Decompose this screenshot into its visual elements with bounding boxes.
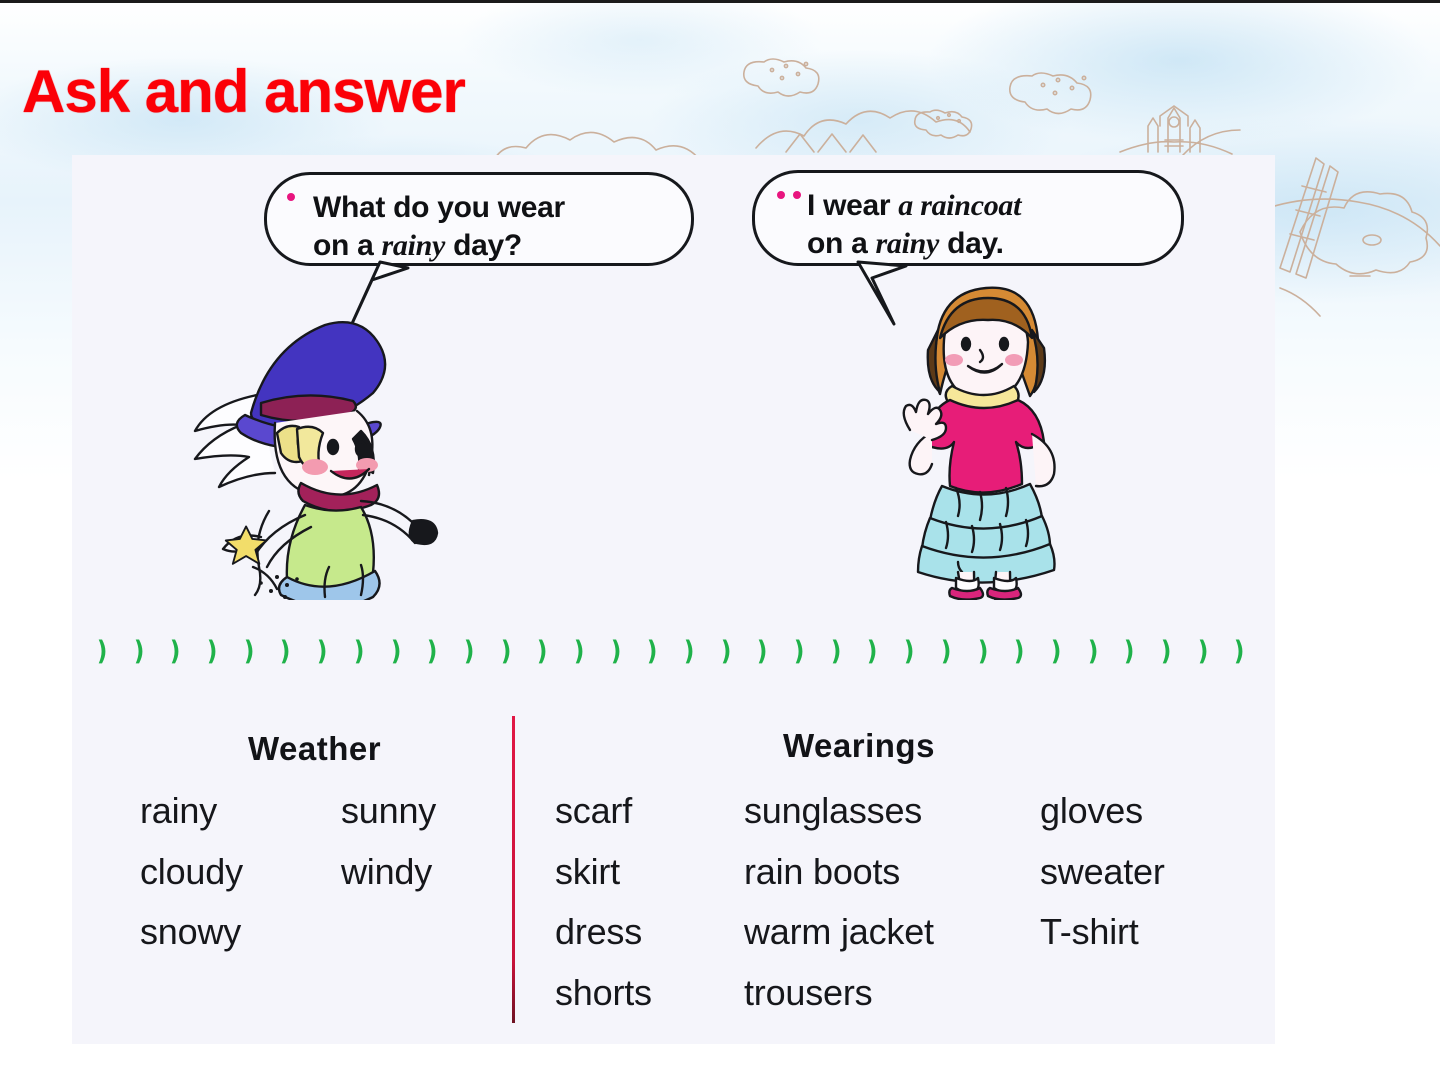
divider-mark-icon: ) [867,638,877,665]
question-line-2-post: day? [445,229,522,262]
speech-bubble-answer: I wear a raincoat on a rainy day. [752,170,1184,266]
wearings-word: T-shirt [1040,911,1139,953]
fairy-character [165,315,440,600]
weather-word: rainy [140,790,217,832]
wearings-word: sweater [1040,851,1165,893]
answer-line-2-pre: on a [807,227,876,260]
divider-mark-icon: ) [134,638,144,665]
divider-mark-icon: ) [464,638,474,665]
wearings-word: dress [555,911,642,953]
wearings-word: trousers [744,972,872,1014]
wearings-word: warm jacket [744,911,934,953]
divider-mark-icon: ) [537,638,547,665]
divider-mark-icon: ) [207,638,217,665]
weather-heading: Weather [248,730,381,768]
divider-mark-icon: ) [977,638,987,665]
answer-line-2-emphasis: rainy [876,227,940,260]
question-line-2-emphasis: rainy [382,229,446,262]
divider-mark-icon: ) [354,638,364,665]
divider-mark-icon: ) [97,638,107,665]
answer-line-2-post: day. [939,227,1004,260]
slide-canvas: Ask and answer What do you wear on a rai… [0,0,1440,1080]
divider-mark-icon: ) [170,638,180,665]
weather-word: windy [341,851,432,893]
divider-mark-icon: ) [1198,638,1208,665]
wearings-word: scarf [555,790,632,832]
weather-word: snowy [140,911,241,953]
accent-dot-icon [777,191,785,199]
divider-mark-icon: ) [1161,638,1171,665]
answer-line-1-emphasis: a raincoat [898,189,1021,222]
divider-mark-icon: ) [647,638,657,665]
divider-mark-icon: ) [904,638,914,665]
divider-mark-icon: ) [757,638,767,665]
divider-mark-icon: ) [1124,638,1134,665]
girl-character [884,282,1080,600]
wearings-word: shorts [555,972,652,1014]
divider-mark-icon: ) [244,638,254,665]
accent-dot-icon [287,193,295,201]
divider-mark-icon: ) [794,638,804,665]
wearings-word: sunglasses [744,790,922,832]
bottom-strip [0,1076,1440,1080]
weather-word: cloudy [140,851,243,893]
divider-mark-icon: ) [427,638,437,665]
divider-mark-icon: ) [1234,638,1244,665]
divider-mark-icon: ) [831,638,841,665]
question-line-2-pre: on a [313,229,382,262]
divider-mark-icon: ) [721,638,731,665]
divider-mark-icon: ) [390,638,400,665]
divider-mark-icon: ) [1051,638,1061,665]
wearings-word: rain boots [744,851,900,893]
question-text: What do you wear on a rainy day? [313,189,677,266]
answer-line-1-pre: I wear [807,189,898,222]
wearings-word: gloves [1040,790,1143,832]
question-line-1: What do you wear [313,191,565,224]
divider-mark-icon: ) [611,638,621,665]
divider-mark-icon: ) [941,638,951,665]
speech-bubble-question: What do you wear on a rainy day? [264,172,694,266]
divider-mark-icon: ) [317,638,327,665]
page-title: Ask and answer [22,62,465,122]
column-separator [512,716,515,1023]
top-border-line [0,0,1440,3]
accent-dot-icon [793,191,801,199]
answer-text: I wear a raincoat on a rainy day. [807,187,1167,264]
wearings-word: skirt [555,851,620,893]
divider-mark-icon: ) [684,638,694,665]
weather-word: sunny [341,790,436,832]
divider-mark-icon: ) [500,638,510,665]
divider-mark-icon: ) [280,638,290,665]
divider-mark-icon: ) [1087,638,1097,665]
wearings-heading: Wearings [783,727,935,765]
decorative-divider: )))))))))))))))))))))))))))))))) [96,636,1246,666]
divider-mark-icon: ) [1014,638,1024,665]
divider-mark-icon: ) [574,638,584,665]
